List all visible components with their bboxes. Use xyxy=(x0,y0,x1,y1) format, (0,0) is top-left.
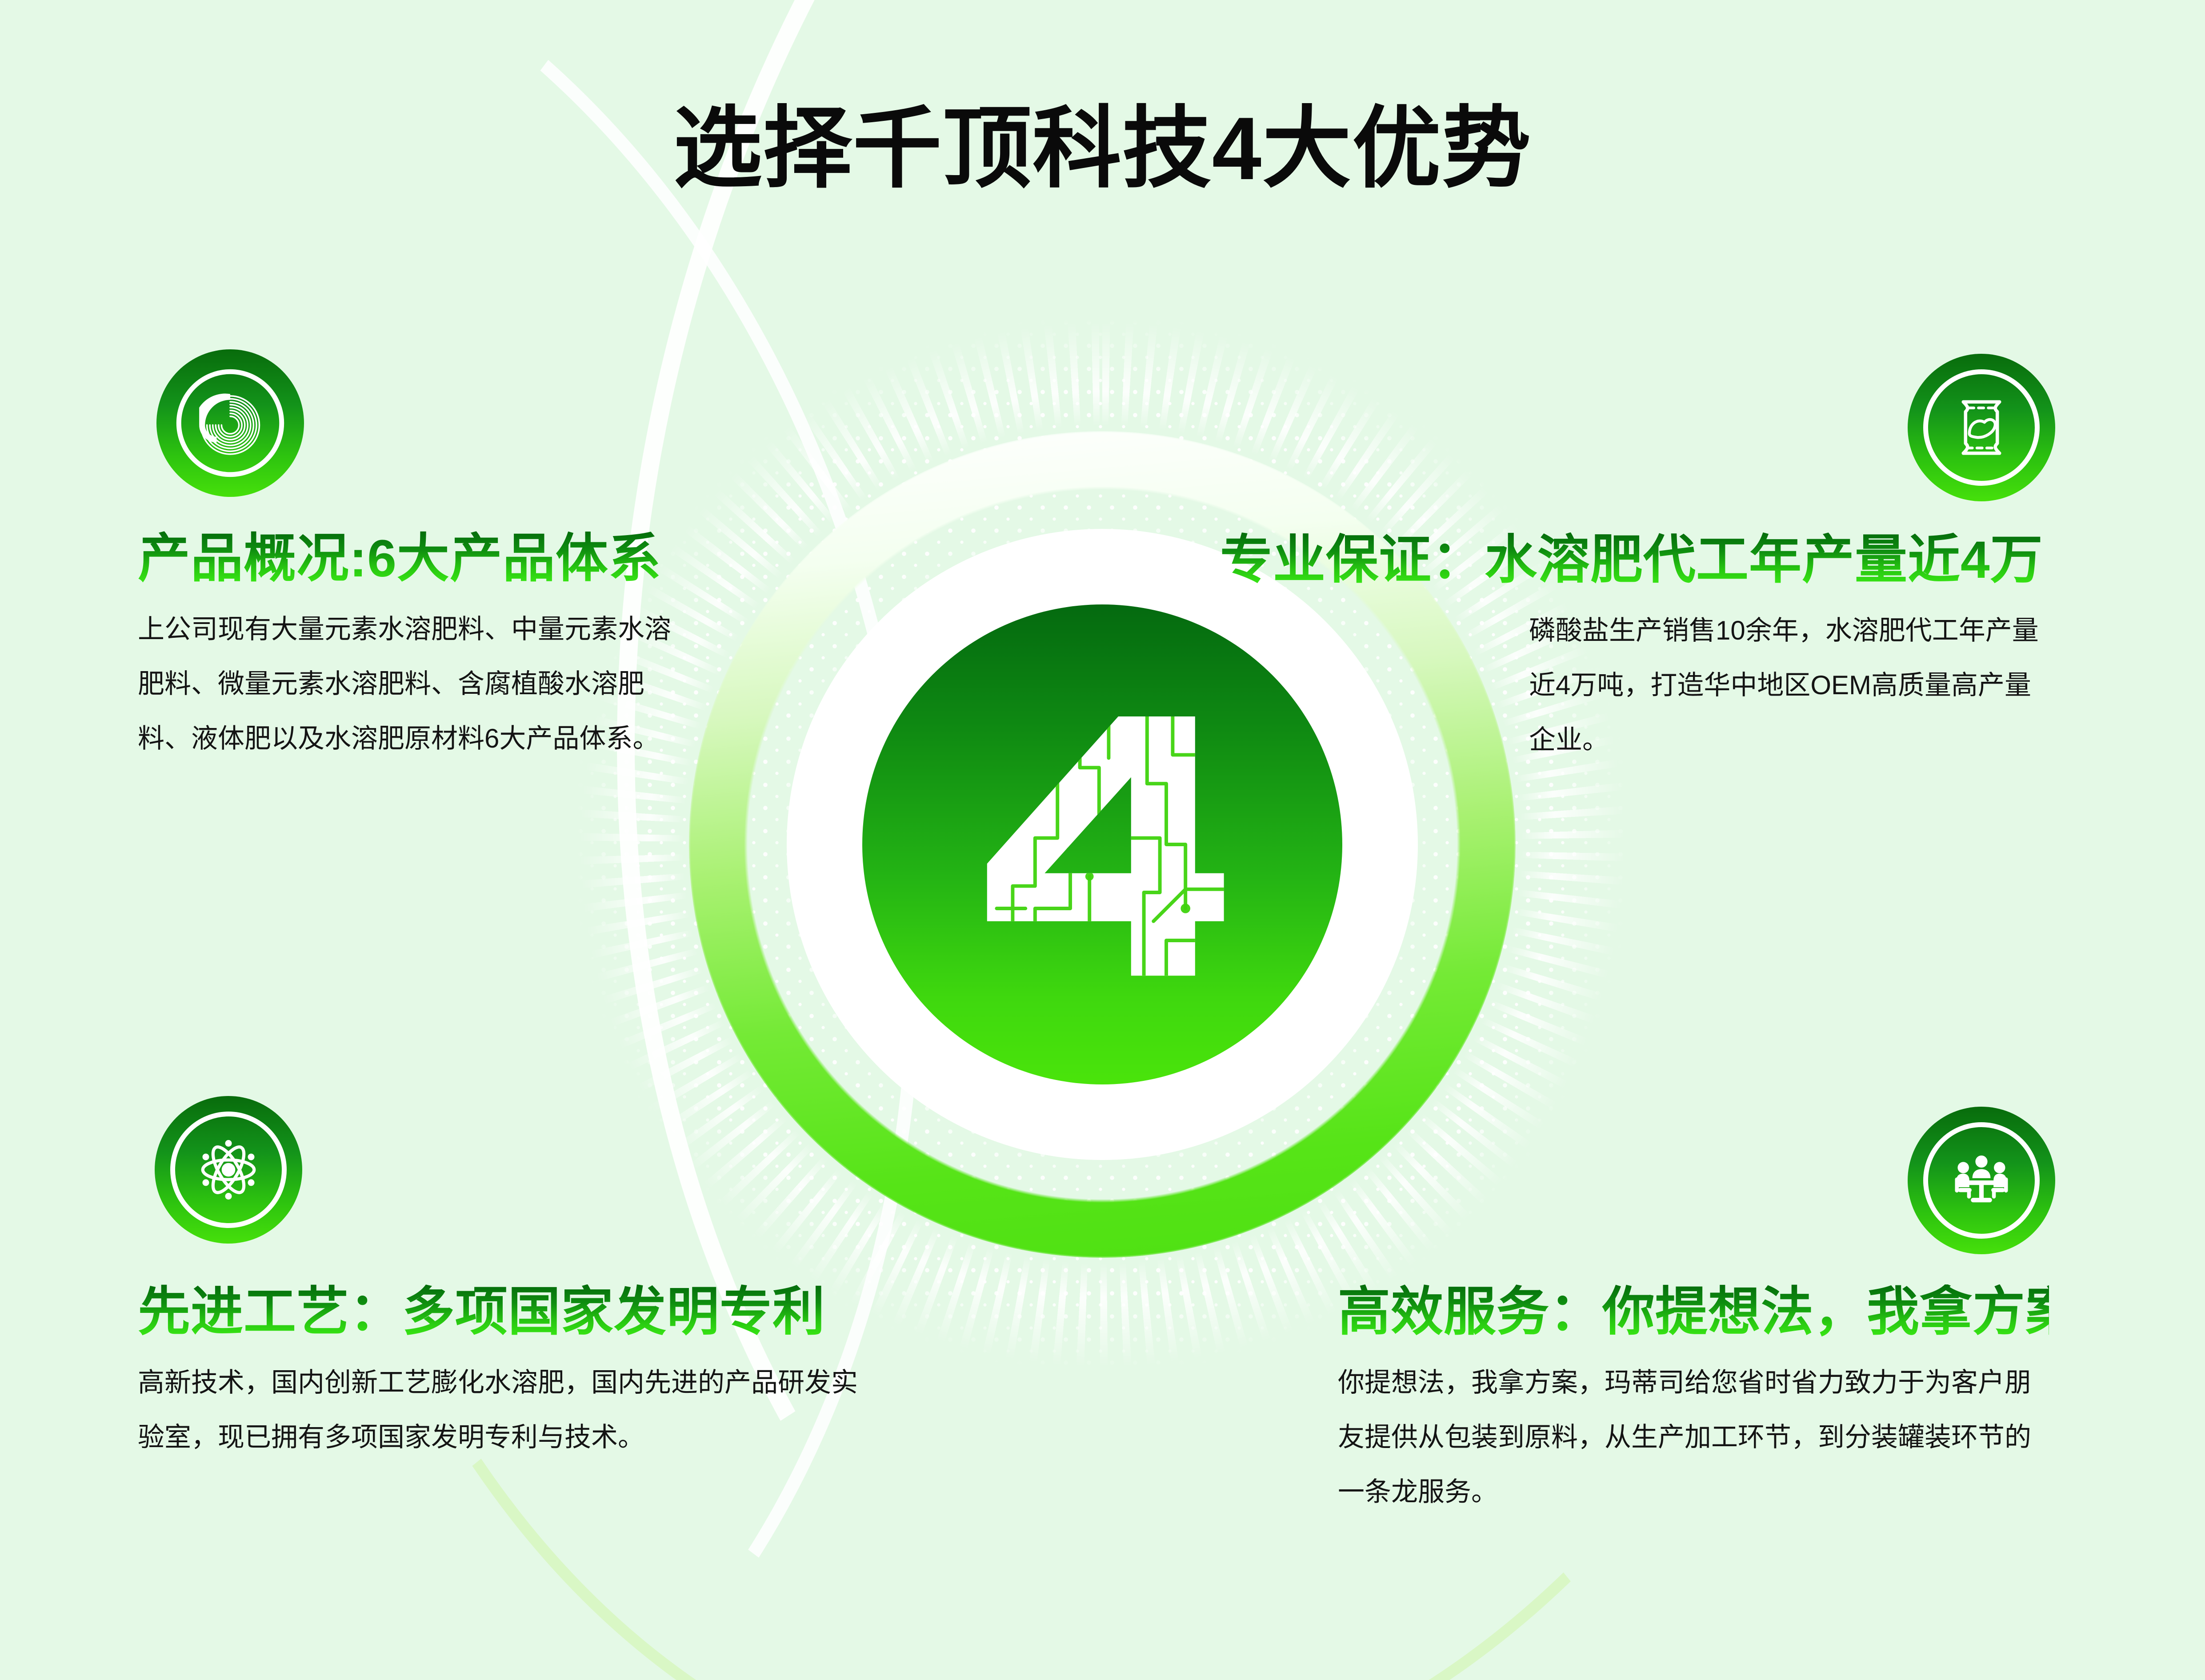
badge-efficient-service[interactable] xyxy=(1908,1107,2055,1254)
fertilizer-bag-icon xyxy=(1944,390,2019,465)
badge-advanced-process[interactable] xyxy=(155,1096,302,1244)
advantage-heading: 先进工艺：多项国家发明专利 xyxy=(138,1284,893,1340)
atom-icon xyxy=(191,1132,266,1208)
badge-ring-inner xyxy=(172,365,288,481)
number-six-rings-icon xyxy=(172,365,288,481)
badge-ring-inner xyxy=(1923,369,2040,486)
advantage-block-top-right: 专业保证：水溶肥代工年产量近4万吨 磷酸盐生产销售10余年，水溶肥代工年产量近4… xyxy=(1220,532,2045,767)
advantage-block-bottom-right: 高效服务：你提想法，我拿方案 你提想法，我拿方案，玛蒂司给您省时省力致力于为客户… xyxy=(1338,1284,2049,1519)
badge-professional-guarantee[interactable] xyxy=(1908,354,2055,501)
advantage-heading: 高效服务：你提想法，我拿方案 xyxy=(1338,1284,2049,1340)
badge-product-overview[interactable] xyxy=(156,349,304,497)
advantage-body: 上公司现有大量元素水溶肥料、中量元素水溶肥料、微量元素水溶肥料、含腐植酸水溶肥料… xyxy=(138,602,691,766)
meeting-people-icon xyxy=(1944,1143,2019,1218)
advantage-heading: 产品概况:6大产品体系 xyxy=(138,531,702,587)
badge-ring-inner xyxy=(1923,1122,2040,1239)
badge-ring-inner xyxy=(170,1112,287,1228)
advantage-heading: 专业保证：水溶肥代工年产量近4万吨 xyxy=(1220,532,2045,588)
circuit-number-four-icon xyxy=(942,684,1262,1004)
advantage-body: 高新技术，国内创新工艺膨化水溶肥，国内先进的产品研发实验室，现已拥有多项国家发明… xyxy=(138,1355,876,1464)
page-title: 选择千顶科技4大优势 xyxy=(0,102,2205,196)
center-graphic xyxy=(556,298,1649,1391)
advantage-block-bottom-left: 先进工艺：多项国家发明专利 高新技术，国内创新工艺膨化水溶肥，国内先进的产品研发… xyxy=(138,1284,893,1464)
advantage-body: 你提想法，我拿方案，玛蒂司给您省时省力致力于为客户朋友提供从包装到原料，从生产加… xyxy=(1338,1355,2045,1519)
advantage-body: 磷酸盐生产销售10余年，水溶肥代工年产量近4万吨，打造华中地区OEM高质量高产量… xyxy=(1529,603,2045,767)
infographic-poster: 选择千顶科技4大优势 xyxy=(0,0,2205,1680)
advantage-block-top-left: 产品概况:6大产品体系 上公司现有大量元素水溶肥料、中量元素水溶肥料、微量元素水… xyxy=(138,531,702,766)
